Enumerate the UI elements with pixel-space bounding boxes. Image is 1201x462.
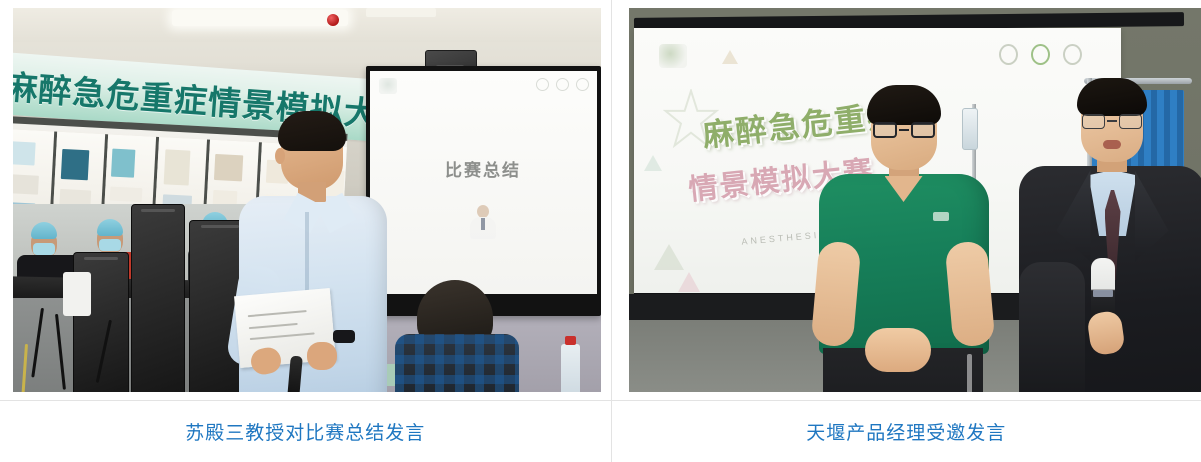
person-hair xyxy=(867,85,941,125)
glasses-icon xyxy=(873,122,935,138)
decorative-triangle-icon xyxy=(654,244,684,270)
backdrop-logos xyxy=(999,44,1082,65)
gallery-cell-left: 麻醉急危重症情景模拟大赛 xyxy=(0,0,611,401)
slide-logo-icon xyxy=(556,78,569,91)
gallery-image-row: 麻醉急危重症情景模拟大赛 xyxy=(0,0,1201,401)
photo-container-left: 麻醉急危重症情景模拟大赛 xyxy=(0,0,611,400)
photo-gallery: 麻醉急危重症情景模拟大赛 xyxy=(0,0,1201,462)
person-hair xyxy=(1077,78,1147,116)
backdrop-logo-left-icon xyxy=(659,44,687,68)
slide-logo-left-icon xyxy=(379,78,397,94)
slide-logo-icon xyxy=(536,78,549,91)
photo-left[interactable]: 麻醉急危重症情景模拟大赛 xyxy=(13,8,601,392)
slide-logos xyxy=(536,78,589,91)
photo-caption-left[interactable]: 苏殿三教授对比赛总结发言 xyxy=(0,401,611,462)
speaker-ear xyxy=(275,148,285,164)
speaker-hair xyxy=(278,111,346,151)
decorative-triangle-icon xyxy=(722,50,738,64)
decorative-triangle-icon xyxy=(644,155,662,171)
gallery-caption-row: 苏殿三教授对比赛总结发言 天堰产品经理受邀发言 xyxy=(0,401,1201,462)
slide-title: 比赛总结 xyxy=(370,156,597,181)
face-mask-icon xyxy=(33,243,55,255)
water-bottle-icon xyxy=(561,344,580,392)
wristwatch-icon xyxy=(333,330,355,343)
person-arm xyxy=(944,240,995,347)
gallery-caption-cell-left: 苏殿三教授对比赛总结发言 xyxy=(0,401,611,462)
backdrop-logo-icon xyxy=(1031,44,1050,65)
iv-bag-icon xyxy=(962,108,978,150)
person-arm xyxy=(1019,262,1085,392)
power-unit xyxy=(63,272,91,316)
face-mask-icon xyxy=(99,239,121,251)
gallery-cell-right: 麻醉急危重症 情景模拟大赛 ANESTHESIA SIMULATION CONT… xyxy=(611,0,1201,401)
decorative-triangle-icon xyxy=(678,272,700,292)
surgical-cap-icon xyxy=(31,222,57,239)
surgical-cap-icon xyxy=(97,219,123,236)
slide-portrait-icon xyxy=(470,205,496,239)
photo-right[interactable]: 麻醉急危重症 情景模拟大赛 ANESTHESIA SIMULATION CONT… xyxy=(629,8,1201,392)
photo-container-right: 麻醉急危重症 情景模拟大赛 ANESTHESIA SIMULATION CONT… xyxy=(612,0,1201,400)
glasses-icon xyxy=(1082,114,1142,129)
photo-caption-right[interactable]: 天堰产品经理受邀发言 xyxy=(612,401,1201,462)
badge-icon xyxy=(933,212,949,221)
backdrop-logo-icon xyxy=(999,44,1018,65)
trouser-stripe xyxy=(967,354,972,392)
backdrop-logo-icon xyxy=(1063,44,1082,65)
microphone-label xyxy=(1093,290,1113,297)
attendee-plaid-shirt xyxy=(395,334,519,392)
ceiling-light-icon xyxy=(172,10,348,26)
clasped-hands xyxy=(865,328,931,372)
ceiling-light-secondary-icon xyxy=(366,8,437,17)
slide-logo-icon xyxy=(576,78,589,91)
gallery-caption-cell-right: 天堰产品经理受邀发言 xyxy=(611,401,1201,462)
projection-screen-frame: 比赛总结 xyxy=(366,66,601,316)
person-mouth xyxy=(1103,140,1121,149)
projection-screen: 比赛总结 xyxy=(370,71,597,294)
speaker-hand xyxy=(307,342,337,370)
equipment-case xyxy=(131,204,185,392)
person-arm xyxy=(810,240,861,347)
